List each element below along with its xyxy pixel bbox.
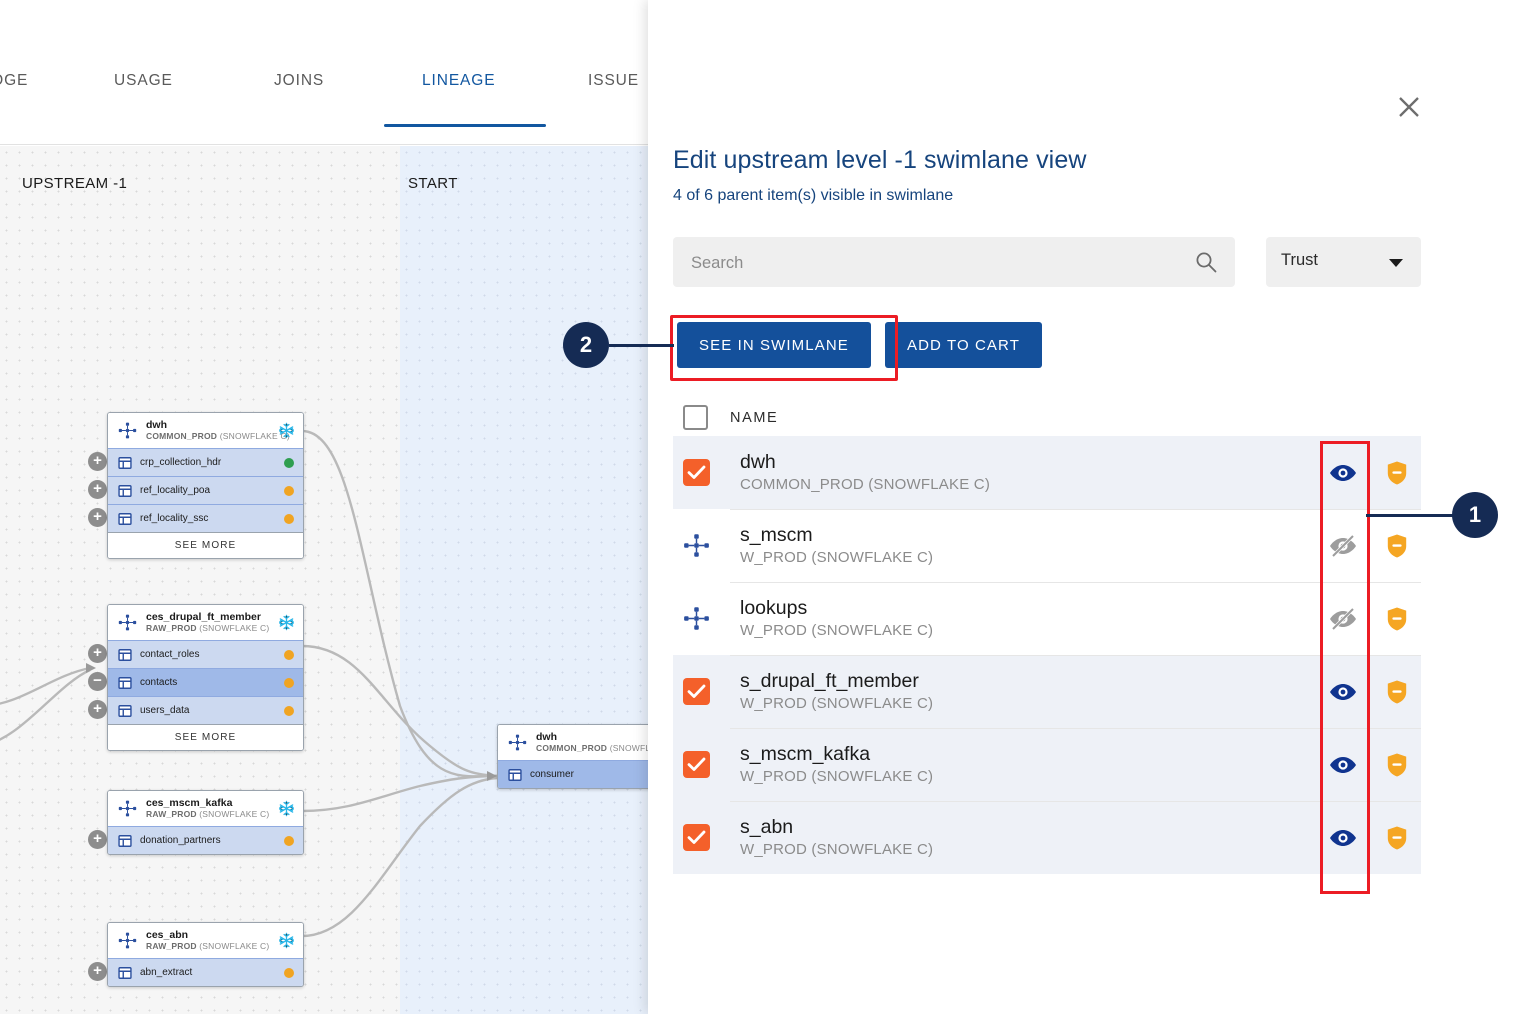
- table-icon: [508, 768, 522, 782]
- lineage-canvas[interactable]: UPSTREAM -1START +++dwhCOMMON_PROD (SNOW…: [0, 146, 660, 1014]
- lineage-node-title: ces_abn: [146, 929, 269, 941]
- lineage-column-row[interactable]: contacts: [108, 668, 303, 696]
- search-box[interactable]: [673, 237, 1235, 287]
- row-checkbox-checked[interactable]: [683, 678, 710, 705]
- lineage-column-row[interactable]: crp_collection_hdr: [108, 448, 303, 476]
- trust-shield-icon: [1386, 533, 1408, 559]
- row-visibility-toggle[interactable]: [1313, 604, 1373, 634]
- lineage-node-header[interactable]: dwhCOMMON_PROD (SNOWFLAKE C): [108, 413, 303, 448]
- edit-swimlane-panel: Edit upstream level -1 swimlane view 4 o…: [648, 0, 1534, 1014]
- row-item-name: lookups: [740, 596, 1313, 620]
- expand-column-button[interactable]: +: [88, 644, 107, 663]
- see-in-swimlane-button[interactable]: SEE IN SWIMLANE: [677, 322, 871, 368]
- trust-shield-icon: [1386, 825, 1408, 851]
- row-trust-badge: [1373, 752, 1421, 778]
- lineage-node[interactable]: ces_drupal_ft_memberRAW_PROD (SNOWFLAKE …: [107, 604, 304, 751]
- row-divider: [730, 582, 1421, 583]
- table-icon: [118, 648, 132, 662]
- lineage-column-name: contacts: [140, 677, 276, 688]
- eye-hidden-icon: [1328, 531, 1358, 561]
- column-status-dot: [284, 836, 294, 846]
- trust-shield-icon: [1386, 752, 1408, 778]
- lineage-node-icon: [118, 799, 137, 818]
- search-input[interactable]: [689, 237, 1183, 289]
- see-more-button[interactable]: SEE MORE: [108, 532, 303, 558]
- trust-filter-value: Trust: [1281, 251, 1318, 270]
- column-status-dot: [284, 968, 294, 978]
- checkmark-icon: [687, 829, 706, 846]
- row-text-cell: s_mscm_kafkaW_PROD (SNOWFLAKE C): [740, 742, 1313, 787]
- table-icon: [118, 484, 132, 498]
- column-status-dot: [284, 650, 294, 660]
- column-status-dot: [284, 678, 294, 688]
- lineage-node-text: ces_abnRAW_PROD (SNOWFLAKE C): [146, 929, 269, 952]
- lineage-node-subtitle: COMMON_PROD (SNOWFLAKE C): [146, 431, 269, 442]
- close-icon[interactable]: [1392, 90, 1426, 124]
- row-trust-badge: [1373, 606, 1421, 632]
- lineage-app: DGEUSAGEJOINSLINEAGEISSUE UPSTREAM -1STA…: [0, 0, 660, 1014]
- table-row[interactable]: dwhCOMMON_PROD (SNOWFLAKE C): [673, 436, 1421, 509]
- row-item-source: W_PROD (SNOWFLAKE C): [740, 693, 1313, 714]
- table-row[interactable]: s_abnW_PROD (SNOWFLAKE C): [673, 801, 1421, 874]
- column-status-dot: [284, 706, 294, 716]
- expand-column-button[interactable]: +: [88, 962, 107, 981]
- lane-label: UPSTREAM -1: [22, 175, 127, 192]
- snowflake-icon: [278, 932, 295, 949]
- table-row[interactable]: lookupsW_PROD (SNOWFLAKE C): [673, 582, 1421, 655]
- add-to-cart-button[interactable]: ADD TO CART: [885, 322, 1042, 368]
- row-lead-cell[interactable]: [673, 751, 740, 778]
- row-text-cell: s_mscmW_PROD (SNOWFLAKE C): [740, 523, 1313, 568]
- expand-column-button[interactable]: +: [88, 480, 107, 499]
- lineage-node-subtitle: COMMON_PROD (SNOWFLAKE C: [536, 743, 659, 754]
- tab-usage[interactable]: USAGE: [114, 72, 173, 90]
- trust-shield-icon: [1386, 460, 1408, 486]
- row-text-cell: dwhCOMMON_PROD (SNOWFLAKE C): [740, 450, 1313, 495]
- lineage-node[interactable]: ces_abnRAW_PROD (SNOWFLAKE C)abn_extract: [107, 922, 304, 987]
- row-divider: [730, 655, 1421, 656]
- row-lead-cell[interactable]: [673, 532, 740, 559]
- lineage-node-title: ces_mscm_kafka: [146, 797, 269, 809]
- lineage-column-name: contact_roles: [140, 649, 276, 660]
- eye-visible-icon: [1328, 823, 1358, 853]
- eye-visible-icon: [1328, 458, 1358, 488]
- lineage-column-name: ref_locality_ssc: [140, 513, 276, 524]
- row-text-cell: s_abnW_PROD (SNOWFLAKE C): [740, 815, 1313, 860]
- lineage-column-row[interactable]: abn_extract: [108, 958, 303, 986]
- row-checkbox-checked[interactable]: [683, 751, 710, 778]
- row-text-cell: lookupsW_PROD (SNOWFLAKE C): [740, 596, 1313, 641]
- tab-joins[interactable]: JOINS: [274, 72, 324, 90]
- row-trust-badge: [1373, 825, 1421, 851]
- lineage-node-subtitle: RAW_PROD (SNOWFLAKE C): [146, 623, 269, 634]
- tab-bar: DGEUSAGEJOINSLINEAGEISSUE: [0, 72, 660, 130]
- row-visibility-toggle[interactable]: [1313, 677, 1373, 707]
- lineage-node-text: ces_mscm_kafkaRAW_PROD (SNOWFLAKE C): [146, 797, 269, 820]
- lineage-column-name: donation_partners: [140, 835, 276, 846]
- lineage-node-subtitle: RAW_PROD (SNOWFLAKE C): [146, 941, 269, 952]
- lineage-column-row[interactable]: ref_locality_poa: [108, 476, 303, 504]
- lineage-node-header[interactable]: ces_abnRAW_PROD (SNOWFLAKE C): [108, 923, 303, 958]
- table-icon: [118, 456, 132, 470]
- table-row[interactable]: s_mscm_kafkaW_PROD (SNOWFLAKE C): [673, 728, 1421, 801]
- row-divider: [730, 801, 1421, 802]
- lineage-node-text: ces_drupal_ft_memberRAW_PROD (SNOWFLAKE …: [146, 611, 269, 634]
- lineage-node-header[interactable]: dwhCOMMON_PROD (SNOWFLAKE C: [498, 725, 660, 760]
- lineage-node-text: dwhCOMMON_PROD (SNOWFLAKE C: [536, 731, 659, 754]
- expand-column-button[interactable]: +: [88, 508, 107, 527]
- row-trust-badge: [1373, 533, 1421, 559]
- table-icon: [118, 966, 132, 980]
- collapse-column-button[interactable]: −: [88, 672, 107, 691]
- lineage-column-row[interactable]: ref_locality_ssc: [108, 504, 303, 532]
- tab-lineage[interactable]: LINEAGE: [422, 72, 496, 90]
- row-visibility-toggle[interactable]: [1313, 750, 1373, 780]
- lineage-column-name: users_data: [140, 705, 276, 716]
- table-icon: [118, 834, 132, 848]
- checkmark-icon: [687, 464, 706, 481]
- table-icon: [118, 676, 132, 690]
- callout-1: 1: [1452, 492, 1498, 538]
- lineage-column-name: consumer: [530, 769, 660, 780]
- tab-issue[interactable]: ISSUE: [588, 72, 639, 90]
- row-visibility-toggle[interactable]: [1313, 458, 1373, 488]
- row-trust-badge: [1373, 679, 1421, 705]
- row-trust-badge: [1373, 460, 1421, 486]
- row-item-name: dwh: [740, 450, 1313, 474]
- checkmark-icon: [687, 756, 706, 773]
- lineage-node-title: dwh: [146, 419, 269, 431]
- panel-title: Edit upstream level -1 swimlane view: [673, 146, 1086, 175]
- lineage-column-row[interactable]: users_data: [108, 696, 303, 724]
- lineage-node-icon: [508, 733, 527, 752]
- trust-shield-icon: [1386, 606, 1408, 632]
- lineage-column-row[interactable]: contact_roles: [108, 640, 303, 668]
- row-lead-cell[interactable]: [673, 459, 740, 486]
- row-item-name: s_mscm: [740, 523, 1313, 547]
- tabbar-divider: [0, 144, 660, 145]
- row-item-source: W_PROD (SNOWFLAKE C): [740, 620, 1313, 641]
- checkbox-unchecked-icon: [683, 405, 708, 430]
- lineage-column-row[interactable]: consumer: [498, 760, 660, 788]
- row-divider: [730, 728, 1421, 729]
- lineage-column-name: abn_extract: [140, 967, 276, 978]
- row-item-source: W_PROD (SNOWFLAKE C): [740, 547, 1313, 568]
- callout-2-line: [609, 344, 674, 347]
- row-item-name: s_drupal_ft_member: [740, 669, 1313, 693]
- eye-visible-icon: [1328, 677, 1358, 707]
- snowflake-icon: [278, 422, 295, 439]
- row-checkbox-checked[interactable]: [683, 459, 710, 486]
- callout-2: 2: [563, 322, 609, 368]
- table-row[interactable]: s_drupal_ft_memberW_PROD (SNOWFLAKE C): [673, 655, 1421, 728]
- column-status-dot: [284, 514, 294, 524]
- table-icon: [118, 512, 132, 526]
- row-checkbox-checked[interactable]: [683, 824, 710, 851]
- lineage-node[interactable]: dwhCOMMON_PROD (SNOWFLAKE C)crp_collecti…: [107, 412, 304, 559]
- trust-shield-icon: [1386, 679, 1408, 705]
- row-item-source: COMMON_PROD (SNOWFLAKE C): [740, 474, 1313, 495]
- lineage-column-name: crp_collection_hdr: [140, 457, 276, 468]
- lineage-node-icon: [118, 421, 137, 440]
- row-visibility-toggle[interactable]: [1313, 823, 1373, 853]
- lineage-node-icon: [683, 532, 710, 559]
- row-lead-cell[interactable]: [673, 824, 740, 851]
- lineage-node-title: dwh: [536, 731, 659, 743]
- row-lead-cell[interactable]: [673, 605, 740, 632]
- column-status-dot: [284, 458, 294, 468]
- row-item-name: s_abn: [740, 815, 1313, 839]
- lane-label: START: [408, 175, 458, 192]
- lineage-node-text: dwhCOMMON_PROD (SNOWFLAKE C): [146, 419, 269, 442]
- row-item-source: W_PROD (SNOWFLAKE C): [740, 766, 1313, 787]
- item-table: dwhCOMMON_PROD (SNOWFLAKE C)s_mscmW_PROD…: [673, 436, 1421, 874]
- snowflake-icon: [278, 800, 295, 817]
- panel-subtitle: 4 of 6 parent item(s) visible in swimlan…: [673, 187, 953, 205]
- lineage-node-subtitle: RAW_PROD (SNOWFLAKE C): [146, 809, 269, 820]
- search-icon: [1195, 251, 1217, 273]
- row-text-cell: s_drupal_ft_memberW_PROD (SNOWFLAKE C): [740, 669, 1313, 714]
- row-lead-cell[interactable]: [673, 678, 740, 705]
- checkmark-icon: [687, 683, 706, 700]
- lineage-node-icon: [118, 613, 137, 632]
- row-item-name: s_mscm_kafka: [740, 742, 1313, 766]
- expand-column-button[interactable]: +: [88, 830, 107, 849]
- lineage-column-row[interactable]: donation_partners: [108, 826, 303, 854]
- lineage-node-icon: [683, 605, 710, 632]
- snowflake-icon: [278, 614, 295, 631]
- tab-dge[interactable]: DGE: [0, 72, 28, 90]
- row-item-source: W_PROD (SNOWFLAKE C): [740, 839, 1313, 860]
- lineage-edges: [0, 146, 660, 1014]
- lineage-node-header[interactable]: ces_drupal_ft_memberRAW_PROD (SNOWFLAKE …: [108, 605, 303, 640]
- row-visibility-toggle[interactable]: [1313, 531, 1373, 561]
- column-status-dot: [284, 486, 294, 496]
- lineage-column-name: ref_locality_poa: [140, 485, 276, 496]
- see-more-button[interactable]: SEE MORE: [108, 724, 303, 750]
- column-header-name: NAME: [730, 410, 778, 426]
- expand-column-button[interactable]: +: [88, 452, 107, 471]
- table-header: NAME: [673, 399, 1421, 436]
- callout-1-line: [1366, 514, 1456, 517]
- table-row[interactable]: s_mscmW_PROD (SNOWFLAKE C): [673, 509, 1421, 582]
- chevron-down-icon: [1389, 259, 1403, 267]
- select-all-checkbox[interactable]: [673, 405, 730, 430]
- lineage-node[interactable]: dwhCOMMON_PROD (SNOWFLAKE Cconsumer: [497, 724, 660, 789]
- lineage-node-title: ces_drupal_ft_member: [146, 611, 269, 623]
- expand-column-button[interactable]: +: [88, 700, 107, 719]
- lineage-node-icon: [118, 931, 137, 950]
- active-tab-underline: [384, 124, 546, 127]
- trust-filter-select[interactable]: Trust: [1266, 237, 1421, 287]
- eye-visible-icon: [1328, 750, 1358, 780]
- table-icon: [118, 704, 132, 718]
- eye-hidden-icon: [1328, 604, 1358, 634]
- row-divider: [730, 509, 1421, 510]
- lineage-node[interactable]: ces_mscm_kafkaRAW_PROD (SNOWFLAKE C)dona…: [107, 790, 304, 855]
- lineage-node-header[interactable]: ces_mscm_kafkaRAW_PROD (SNOWFLAKE C): [108, 791, 303, 826]
